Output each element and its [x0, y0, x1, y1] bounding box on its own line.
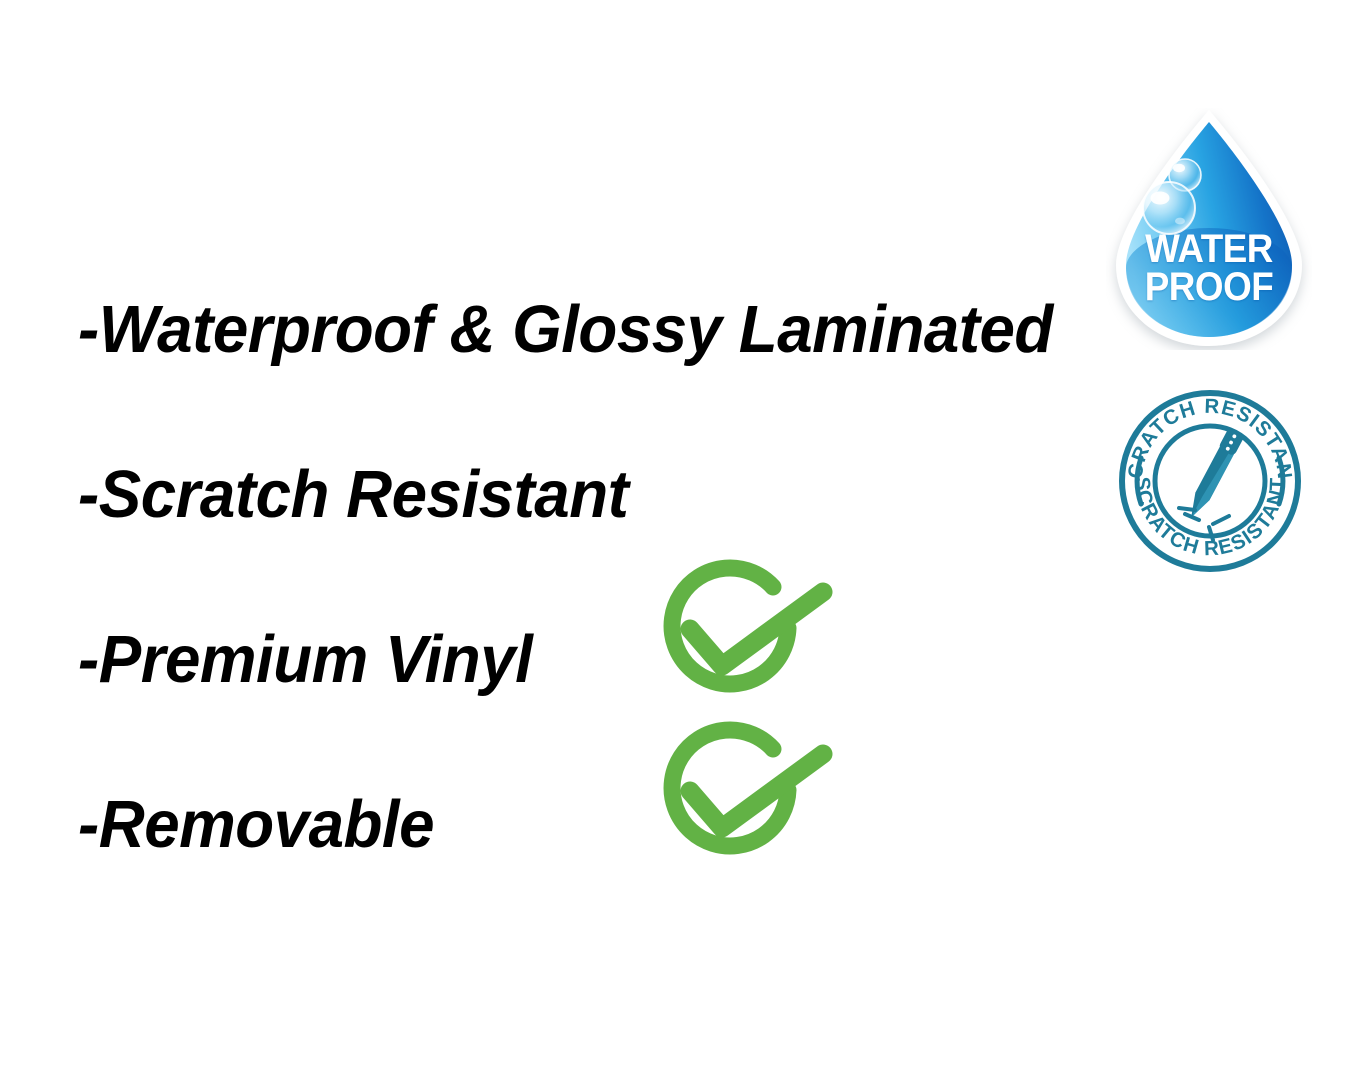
- scratch-resistant-stamp-icon: SCRATCH RESISTANT SCRATCH RESISTANT: [1117, 388, 1303, 574]
- scratch-resistant-badge: SCRATCH RESISTANT SCRATCH RESISTANT: [1117, 388, 1303, 560]
- list-item: -Removable: [78, 743, 1088, 908]
- feature-label-waterproof: -Waterproof & Glossy Laminated: [78, 295, 1053, 365]
- bubble-large-icon: [1143, 182, 1195, 234]
- waterproof-badge: WATER PROOF: [1106, 108, 1312, 350]
- scratch-text-top: SCRATCH RESISTANT: [1117, 388, 1296, 481]
- check-circle-icon: [640, 718, 840, 866]
- checkmark-removable: [640, 718, 840, 866]
- feature-label-removable: -Removable: [78, 790, 434, 860]
- knife-icon: [1183, 427, 1245, 522]
- list-item: -Premium Vinyl: [78, 578, 1088, 743]
- checkmark-premium-vinyl: [640, 556, 840, 704]
- list-item: -Waterproof & Glossy Laminated: [78, 248, 1088, 413]
- feature-label-premium-vinyl: -Premium Vinyl: [78, 625, 532, 695]
- product-feature-graphic: -Waterproof & Glossy Laminated -Scratch …: [0, 0, 1359, 1080]
- check-circle-icon: [640, 556, 840, 704]
- list-item: -Scratch Resistant: [78, 413, 1088, 578]
- feature-list: -Waterproof & Glossy Laminated -Scratch …: [78, 248, 1088, 908]
- feature-label-scratch-resistant: -Scratch Resistant: [78, 460, 628, 530]
- water-drop-icon: [1106, 108, 1312, 350]
